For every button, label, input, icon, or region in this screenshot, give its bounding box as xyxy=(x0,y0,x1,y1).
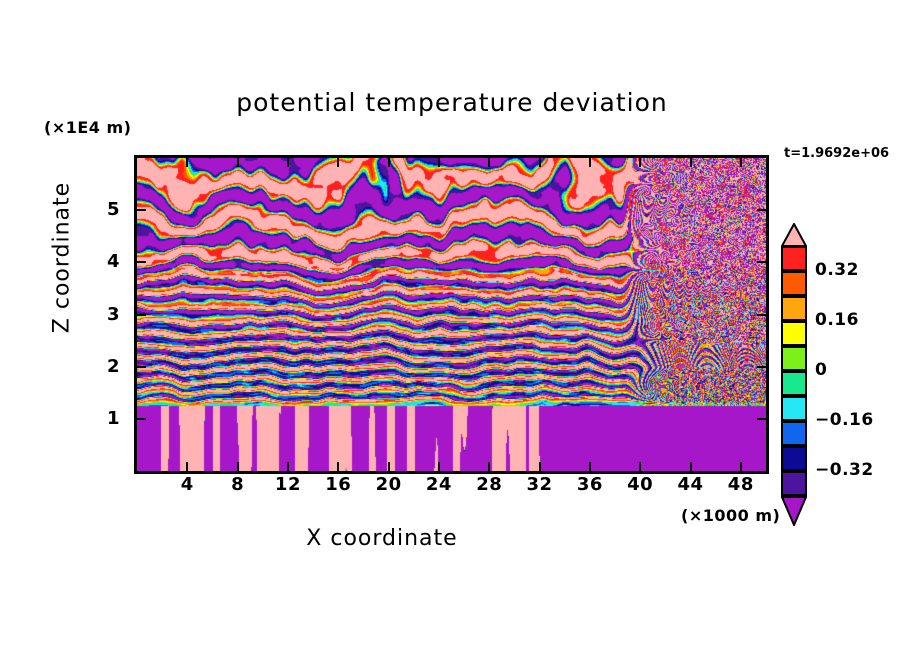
colorbar-tick-label: 0 xyxy=(815,360,827,380)
x-tick-label: 32 xyxy=(520,474,560,495)
y-tick xyxy=(137,366,146,368)
colorbar-band xyxy=(781,421,807,446)
y-tick xyxy=(137,418,146,420)
y-tick xyxy=(757,418,766,420)
x-axis-label: X coordinate xyxy=(0,526,764,551)
y-tick xyxy=(757,261,766,263)
x-tick xyxy=(337,462,339,471)
timestamp-annotation: t=1.9692e+06 xyxy=(784,146,889,161)
x-tick xyxy=(237,462,239,471)
y-axis-unit-label: (×1E4 m) xyxy=(44,118,131,137)
x-tick xyxy=(539,158,541,167)
x-tick xyxy=(740,158,742,167)
x-tick xyxy=(337,158,339,167)
x-tick xyxy=(388,462,390,471)
x-tick xyxy=(740,462,742,471)
colorbar-band xyxy=(781,296,807,321)
x-tick-label: 8 xyxy=(218,474,258,495)
x-axis-unit-label: (×1000 m) xyxy=(681,506,780,525)
y-tick-label: 5 xyxy=(88,199,120,220)
colorbar-band xyxy=(781,446,807,471)
x-tick-label: 40 xyxy=(620,474,660,495)
x-tick xyxy=(186,462,188,471)
x-tick xyxy=(287,158,289,167)
contour-field xyxy=(137,158,766,471)
x-tick-label: 20 xyxy=(369,474,409,495)
colorbar-band xyxy=(781,346,807,371)
colorbar-tick-label: −0.16 xyxy=(815,410,874,430)
colorbar-band xyxy=(781,246,807,271)
x-tick-label: 48 xyxy=(721,474,761,495)
y-tick xyxy=(757,314,766,316)
x-tick-label: 24 xyxy=(419,474,459,495)
x-tick-label: 16 xyxy=(318,474,358,495)
y-tick xyxy=(757,366,766,368)
x-tick xyxy=(589,158,591,167)
x-tick xyxy=(488,462,490,471)
x-tick xyxy=(690,462,692,471)
x-tick-label: 28 xyxy=(469,474,509,495)
x-tick xyxy=(539,462,541,471)
colorbar-tick-label: −0.32 xyxy=(815,460,874,480)
colorbar-band xyxy=(781,321,807,346)
colorbar-band xyxy=(781,471,807,496)
y-tick-label: 2 xyxy=(88,356,120,377)
colorbar-tick-label: 0.16 xyxy=(815,310,859,330)
colorbar-band xyxy=(781,396,807,421)
y-tick xyxy=(137,209,146,211)
colorbar xyxy=(781,246,807,496)
x-tick-label: 36 xyxy=(570,474,610,495)
x-tick-label: 4 xyxy=(167,474,207,495)
x-tick xyxy=(639,462,641,471)
x-tick xyxy=(639,158,641,167)
x-tick-label: 44 xyxy=(671,474,711,495)
y-tick-label: 4 xyxy=(88,251,120,272)
x-tick xyxy=(690,158,692,167)
colorbar-tick-label: 0.32 xyxy=(815,260,859,280)
x-tick xyxy=(388,158,390,167)
colorbar-band xyxy=(781,271,807,296)
x-tick xyxy=(589,462,591,471)
x-tick xyxy=(287,462,289,471)
y-tick-label: 1 xyxy=(88,408,120,429)
chart-title: potential temperature deviation xyxy=(0,88,904,117)
colorbar-over-arrow xyxy=(781,223,807,247)
y-tick-label: 3 xyxy=(88,304,120,325)
contour-plot-area xyxy=(134,155,769,474)
colorbar-under-arrow xyxy=(781,496,807,526)
y-tick xyxy=(137,261,146,263)
x-tick xyxy=(488,158,490,167)
y-tick xyxy=(137,314,146,316)
x-tick xyxy=(186,158,188,167)
y-axis-label: Z coordinate xyxy=(50,178,75,338)
y-tick xyxy=(757,209,766,211)
x-tick xyxy=(438,462,440,471)
x-tick-label: 12 xyxy=(268,474,308,495)
colorbar-band xyxy=(781,371,807,396)
x-tick xyxy=(438,158,440,167)
x-tick xyxy=(237,158,239,167)
